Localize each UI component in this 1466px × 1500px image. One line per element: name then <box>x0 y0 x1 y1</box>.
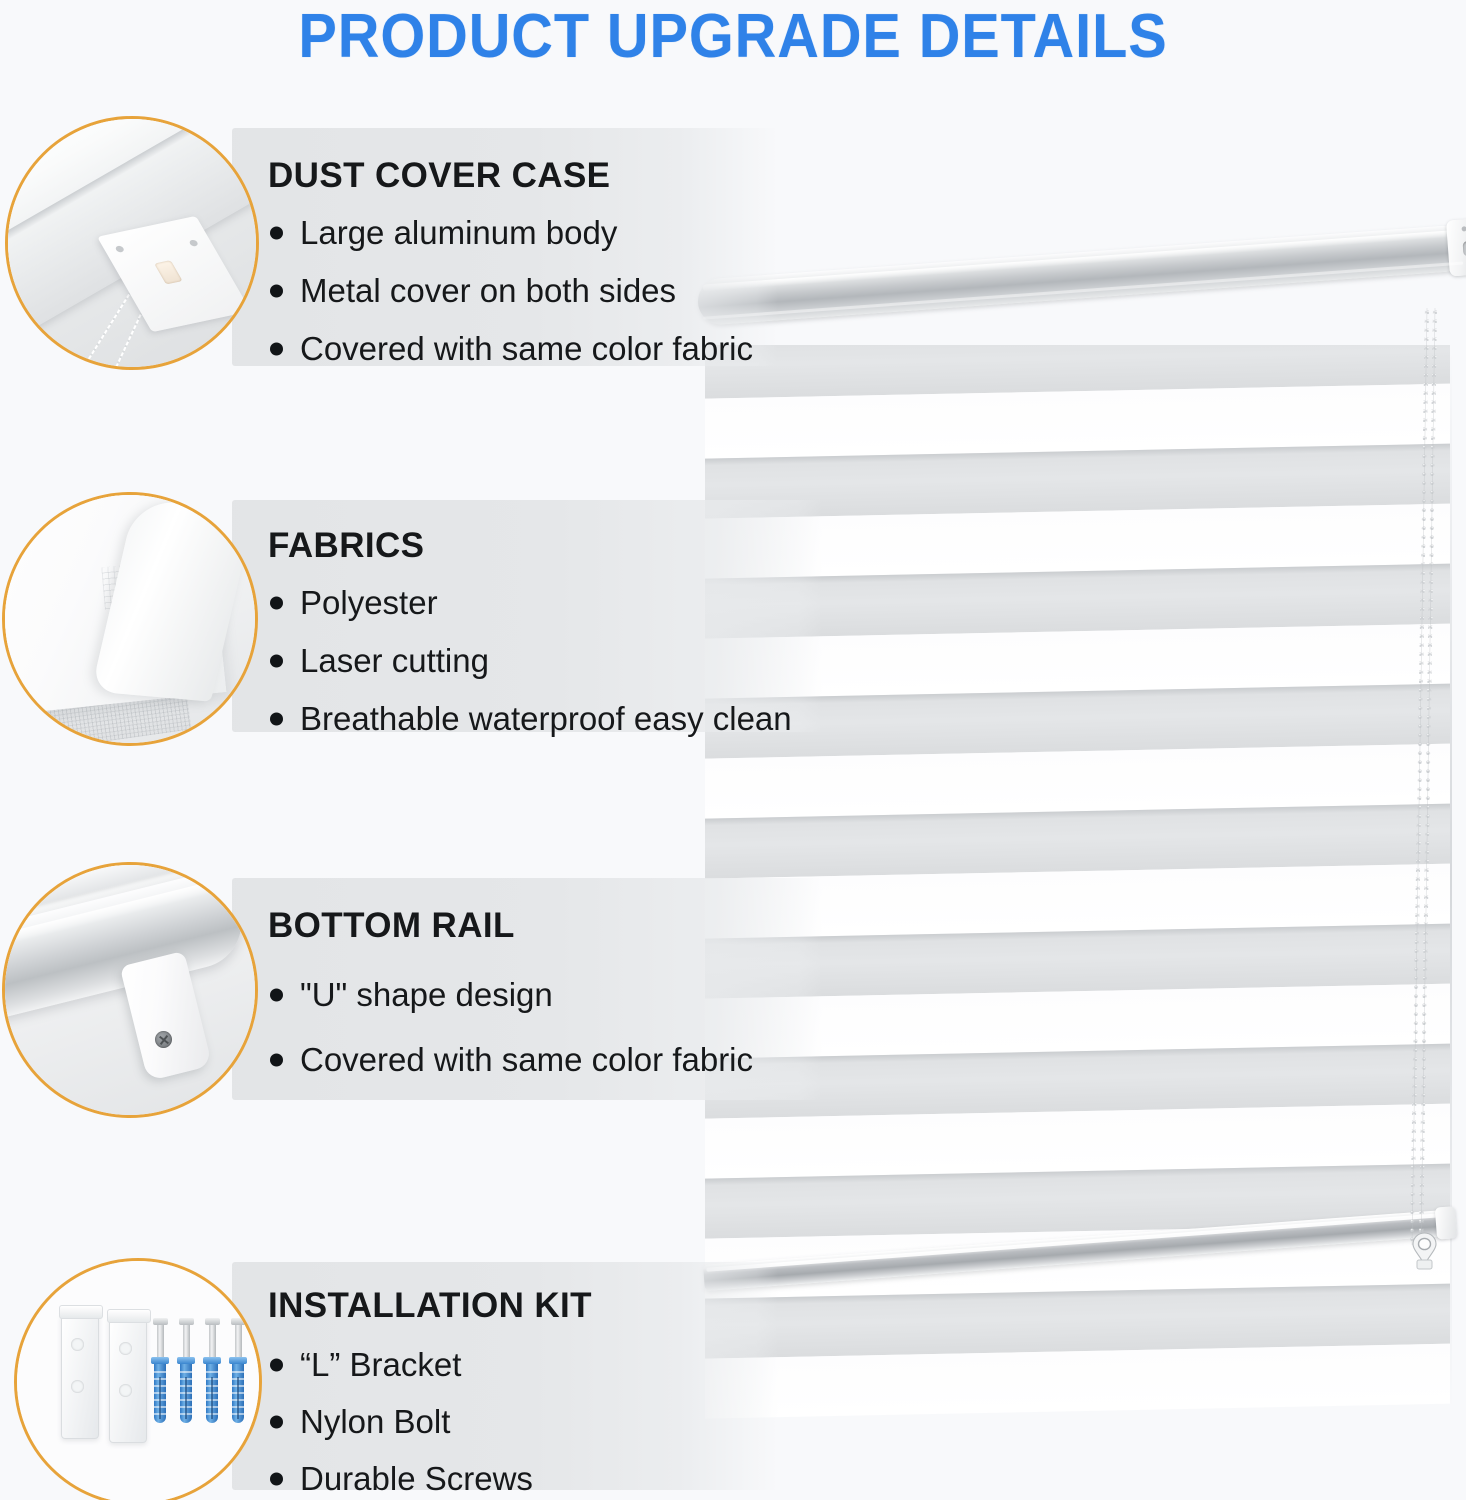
feature-thumb-installation-kit <box>14 1258 262 1500</box>
bullet-dot-icon <box>270 1053 283 1066</box>
feature-heading-dust-cover-case: DUST COVER CASE <box>268 156 610 196</box>
bullet-dot-icon <box>270 1358 283 1371</box>
bullet-dot-icon <box>270 226 283 239</box>
l-bracket-icon <box>61 1313 99 1439</box>
feature-bullets-installation-kit: “L” Bracket Nylon Bolt Durable Screws <box>268 1348 533 1495</box>
l-bracket-icon <box>109 1317 147 1443</box>
bullet-text: Breathable waterproof easy clean <box>300 700 792 737</box>
feature-bullets-fabrics: Polyester Laser cutting Breathable water… <box>268 586 792 735</box>
bullet-dot-icon <box>270 1415 283 1428</box>
page-title: PRODUCT UPGRADE DETAILS <box>51 0 1414 72</box>
bullet-item: “L” Bracket <box>268 1348 533 1381</box>
bullet-text: Durable Screws <box>300 1460 533 1497</box>
feature-panel-bottom-rail: BOTTOM RAIL "U" shape design Covered wit… <box>232 878 822 1100</box>
bullet-dot-icon <box>270 712 283 725</box>
feature-bullets-dust-cover-case: Large aluminum body Metal cover on both … <box>268 216 753 365</box>
feature-panel-fabrics: FABRICS Polyester Laser cutting Breathab… <box>232 500 822 732</box>
feature-bullets-bottom-rail: "U" shape design Covered with same color… <box>268 978 753 1076</box>
bullet-item: "U" shape design <box>268 978 753 1011</box>
bullet-item: Covered with same color fabric <box>268 332 753 365</box>
bullet-item: Laser cutting <box>268 644 792 677</box>
bullet-text: Metal cover on both sides <box>300 272 676 309</box>
bullet-text: Laser cutting <box>300 642 489 679</box>
bullet-text: “L” Bracket <box>300 1346 461 1383</box>
nylon-anchor-icon <box>154 1361 166 1423</box>
nylon-anchor-icon <box>232 1361 244 1423</box>
headrail-end-cap <box>1446 218 1466 276</box>
headrail-screw <box>1461 226 1466 231</box>
bullet-text: Covered with same color fabric <box>300 330 753 367</box>
bullet-text: Nylon Bolt <box>300 1403 450 1440</box>
feature-heading-bottom-rail: BOTTOM RAIL <box>268 906 515 946</box>
bullet-dot-icon <box>270 342 283 355</box>
bullet-item: Metal cover on both sides <box>268 274 753 307</box>
feature-thumb-dust-cover-case <box>5 116 259 370</box>
bullet-dot-icon <box>270 654 283 667</box>
fabric-right-edge <box>1450 350 1452 1410</box>
bullet-dot-icon <box>270 596 283 609</box>
bottom-rail-end-cap <box>1435 1206 1457 1239</box>
bullet-text: Polyester <box>300 584 438 621</box>
headrail-chain-port <box>1463 241 1466 257</box>
bullet-item: Large aluminum body <box>268 216 753 249</box>
feature-heading-installation-kit: INSTALLATION KIT <box>268 1286 592 1326</box>
bullet-item: Durable Screws <box>268 1462 533 1495</box>
feature-thumb-bottom-rail <box>2 862 258 1118</box>
bullet-item: Nylon Bolt <box>268 1405 533 1438</box>
chain-tensioner[interactable] <box>1411 1232 1438 1270</box>
bullet-dot-icon <box>270 1472 283 1485</box>
feature-panel-dust-cover-case: DUST COVER CASE Large aluminum body Meta… <box>232 128 778 366</box>
infographic-canvas: PRODUCT UPGRADE DETAILS <box>0 0 1466 1500</box>
nylon-anchor-icon <box>180 1361 192 1423</box>
bullet-item: Breathable waterproof easy clean <box>268 702 792 735</box>
headrail <box>696 224 1466 326</box>
bullet-dot-icon <box>270 988 283 1001</box>
bullet-item: Covered with same color fabric <box>268 1043 753 1076</box>
bullet-dot-icon <box>270 284 283 297</box>
feature-panel-installation-kit: INSTALLATION KIT “L” Bracket Nylon Bolt … <box>232 1262 778 1490</box>
bullet-item: Polyester <box>268 586 792 619</box>
nylon-anchor-icon <box>206 1361 218 1423</box>
feature-heading-fabrics: FABRICS <box>268 526 424 566</box>
bullet-text: Large aluminum body <box>300 214 617 251</box>
bullet-text: "U" shape design <box>300 976 553 1013</box>
product-image-zebra-blind <box>690 200 1466 1390</box>
bullet-text: Covered with same color fabric <box>300 1041 753 1078</box>
feature-thumb-fabrics <box>2 492 258 746</box>
